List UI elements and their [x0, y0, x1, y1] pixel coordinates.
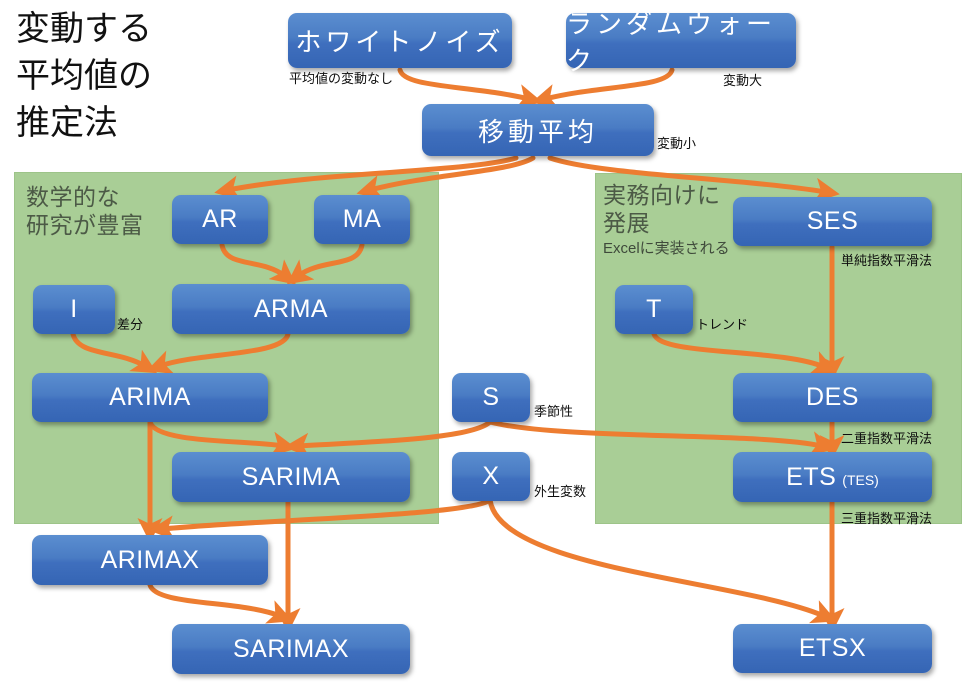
node-sarimax-label: SARIMAX — [233, 635, 349, 664]
arrow-x-to-etsx — [490, 500, 824, 616]
node-t-label: T — [646, 295, 662, 324]
arrow-whitenoise-to-ma — [400, 70, 529, 99]
node-ses-label: SES — [807, 207, 859, 236]
node-ets-label: ETS — [786, 463, 836, 492]
node-des[interactable]: DES — [733, 373, 932, 422]
node-sarimax[interactable]: SARIMAX — [172, 624, 410, 674]
node-arima[interactable]: ARIMA — [32, 373, 268, 422]
node-i-label: I — [70, 295, 77, 324]
node-arima-label: ARIMA — [109, 383, 191, 412]
panel-practice-title: 実務向けに 発展 — [603, 181, 721, 237]
arrow-arma-to-arima — [160, 334, 288, 366]
node-ets-sublabel: (TES) — [842, 472, 879, 488]
node-arma-label: ARMA — [254, 295, 328, 324]
arrow-ma-to-arma — [298, 245, 362, 276]
annotation-small-variation: 変動小 — [657, 133, 696, 152]
arrow-t-to-des — [654, 334, 824, 367]
arrow-s-to-ets — [490, 422, 822, 446]
node-etsx-label: ETSX — [799, 634, 866, 663]
node-arimax-label: ARIMAX — [101, 546, 200, 575]
node-ets[interactable]: ETS (TES) — [733, 452, 932, 502]
panel-math-title: 数学的な 研究が豊富 — [26, 183, 144, 239]
annotation-ses-jp: 単純指数平滑法 — [841, 250, 932, 269]
node-sarima[interactable]: SARIMA — [172, 452, 410, 502]
node-moving-average[interactable]: 移動平均 — [422, 104, 654, 156]
diagram-canvas: 変動する 平均値の 推定法 数学的な 研究が豊富 実務向けに 発展 Excelに… — [0, 0, 973, 694]
node-arma[interactable]: ARMA — [172, 284, 410, 334]
arrow-arimax-to-sarimax — [150, 585, 280, 616]
panel-practice-sub: Excelに実装される — [603, 237, 730, 258]
annotation-exogenous: 外生変数 — [534, 481, 586, 500]
annotation-trend: トレンド — [696, 314, 748, 333]
node-white-noise-label: ホワイトノイズ — [295, 22, 504, 59]
node-x[interactable]: X — [452, 452, 530, 501]
node-t[interactable]: T — [615, 285, 693, 334]
node-white-noise[interactable]: ホワイトノイズ — [288, 13, 512, 68]
annotation-des-jp: 二重指数平滑法 — [841, 428, 932, 447]
node-arimax[interactable]: ARIMAX — [32, 535, 268, 585]
node-etsx[interactable]: ETSX — [733, 624, 932, 673]
page-title: 変動する 平均値の 推定法 — [16, 6, 246, 147]
node-moving-average-label: 移動平均 — [478, 112, 598, 149]
node-ma-label: MA — [343, 205, 382, 234]
arrow-arima-to-sarima — [150, 422, 283, 446]
node-random-walk[interactable]: ランダムウォーク — [566, 13, 796, 68]
node-des-label: DES — [806, 383, 859, 412]
arrow-i-to-arima — [73, 334, 145, 366]
node-ar[interactable]: AR — [172, 195, 268, 244]
annotation-seasonality: 季節性 — [534, 401, 573, 420]
arrow-s-to-sarima — [298, 422, 490, 446]
node-sarima-label: SARIMA — [242, 463, 341, 492]
annotation-tes-jp: 三重指数平滑法 — [841, 508, 932, 527]
node-i[interactable]: I — [33, 285, 115, 334]
arrow-x-to-arimax — [163, 500, 490, 529]
node-s-label: S — [482, 383, 499, 412]
node-x-label: X — [482, 462, 499, 491]
node-ar-label: AR — [202, 205, 238, 234]
node-random-walk-label: ランダムウォーク — [566, 4, 796, 78]
node-ma[interactable]: MA — [314, 195, 410, 244]
annotation-no-mean-change: 平均値の変動なし — [289, 68, 393, 87]
arrow-ar-to-arma — [222, 245, 285, 276]
node-s[interactable]: S — [452, 373, 530, 422]
annotation-difference: 差分 — [117, 314, 143, 333]
node-ses[interactable]: SES — [733, 197, 932, 246]
annotation-large-variation: 変動大 — [723, 70, 762, 89]
